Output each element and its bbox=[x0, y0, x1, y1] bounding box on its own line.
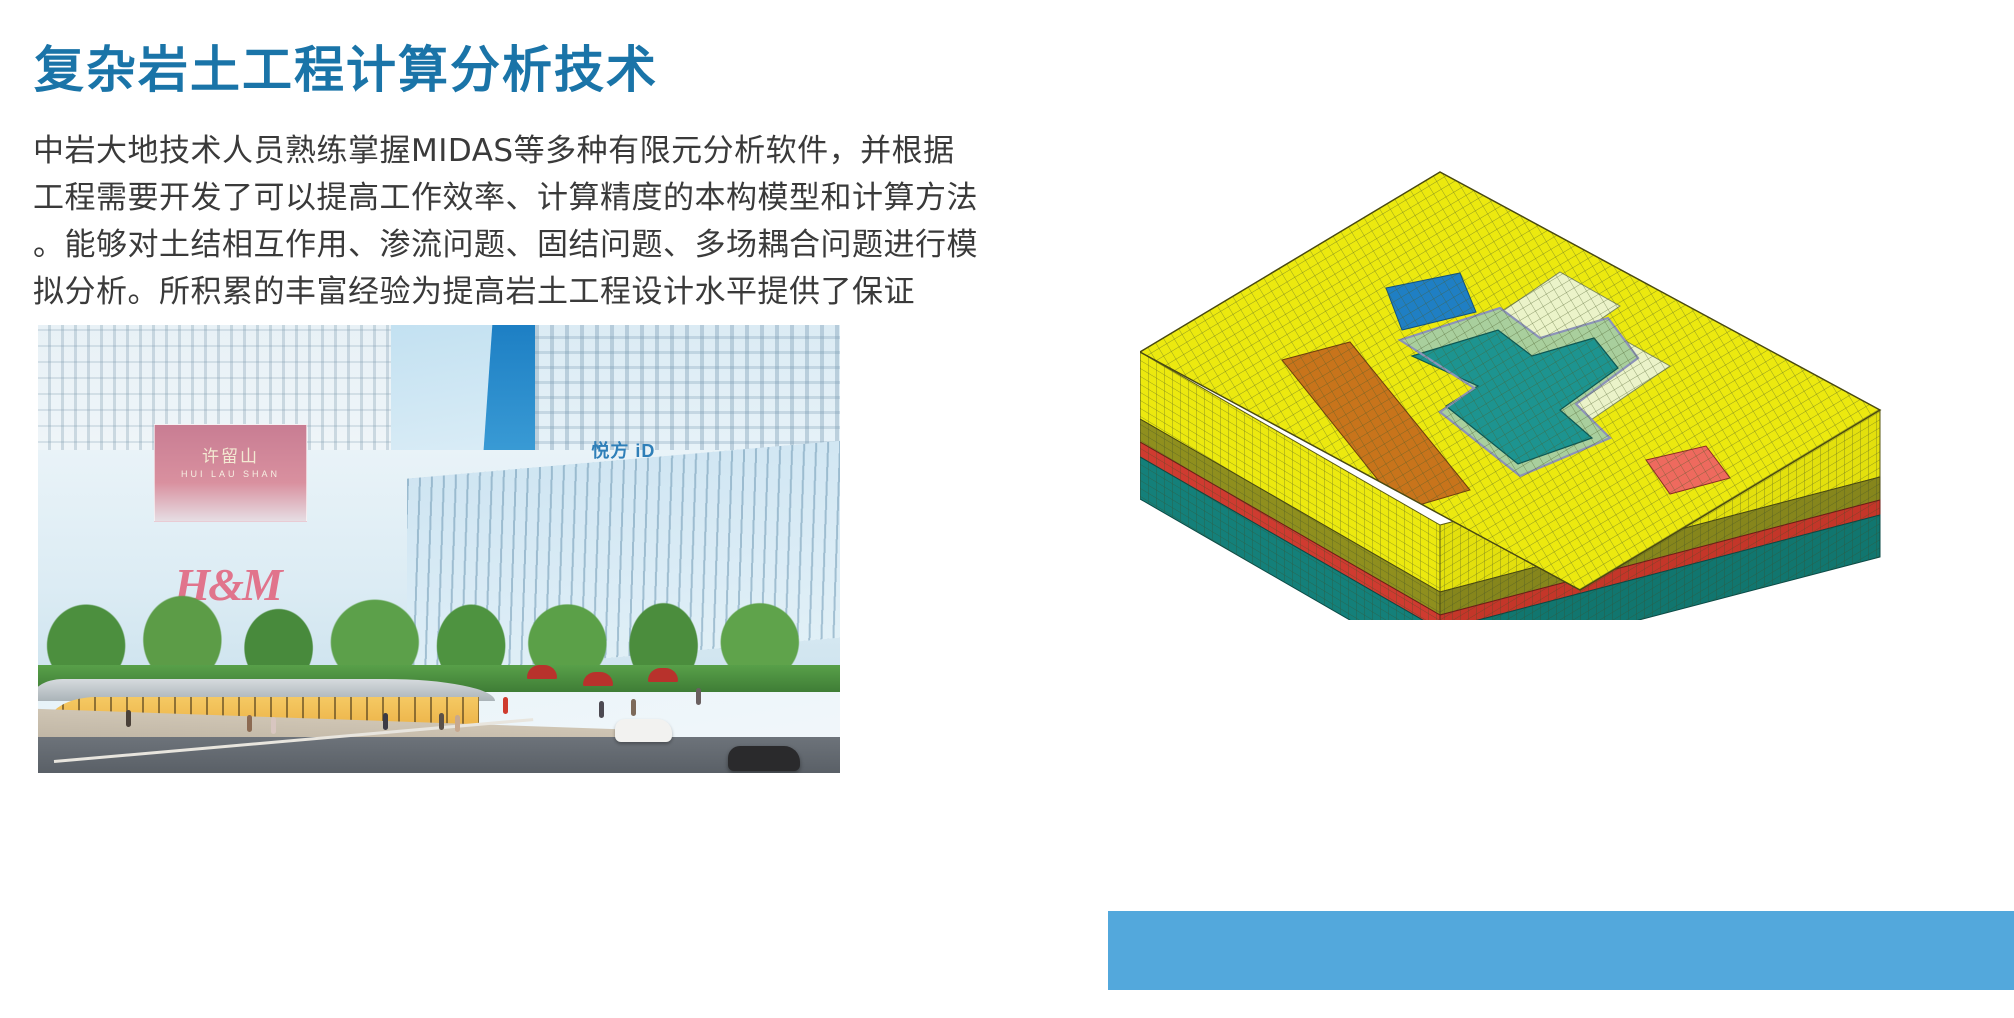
architectural-rendering-photo: 许留山 HUI LAU SHAN H&M 悦方 iD bbox=[38, 325, 840, 773]
patio-umbrella bbox=[648, 668, 678, 682]
id-mall-sign: 悦方 iD bbox=[591, 437, 655, 463]
billboard-english-text: HUI LAU SHAN bbox=[155, 469, 305, 479]
fem-mesh-model bbox=[1140, 160, 1900, 620]
slide-root: 复杂岩土工程计算分析技术 中岩大地技术人员熟练掌握MIDAS等多种有限元分析软件… bbox=[0, 0, 2014, 1018]
pedestrian bbox=[631, 699, 636, 716]
pedestrian bbox=[383, 713, 388, 730]
body-line-4: 拟分析。所积累的丰富经验为提高岩土工程设计水平提供了保证 bbox=[33, 269, 893, 316]
body-line-3: 。能够对土结相互作用、渗流问题、固结问题、多场耦合问题进行模 bbox=[33, 222, 893, 269]
fem-mesh-svg bbox=[1140, 160, 1900, 620]
page-title: 复杂岩土工程计算分析技术 bbox=[34, 30, 658, 102]
pedestrian bbox=[696, 688, 701, 705]
pedestrian bbox=[439, 713, 444, 730]
street-asphalt bbox=[38, 737, 840, 773]
patio-umbrella bbox=[527, 665, 557, 679]
black-car bbox=[728, 746, 800, 771]
pedestrian bbox=[455, 715, 460, 732]
pedestrian bbox=[503, 697, 508, 714]
body-line-1: 中岩大地技术人员熟练掌握MIDAS等多种有限元分析软件，并根据 bbox=[33, 128, 893, 175]
white-car bbox=[615, 719, 671, 741]
pedestrian bbox=[599, 701, 604, 718]
billboard-hui-lau-shan: 许留山 HUI LAU SHAN bbox=[154, 424, 306, 523]
pedestrian bbox=[247, 715, 252, 732]
patio-umbrella bbox=[583, 672, 613, 686]
body-line-2: 工程需要开发了可以提高工作效率、计算精度的本构模型和计算方法 bbox=[33, 175, 893, 222]
body-paragraph: 中岩大地技术人员熟练掌握MIDAS等多种有限元分析软件，并根据 工程需要开发了可… bbox=[33, 128, 893, 316]
footer-blue-bar bbox=[1108, 911, 2014, 990]
billboard-chinese-text: 许留山 bbox=[155, 442, 305, 467]
pedestrian bbox=[271, 717, 276, 734]
pedestrian bbox=[126, 710, 131, 727]
